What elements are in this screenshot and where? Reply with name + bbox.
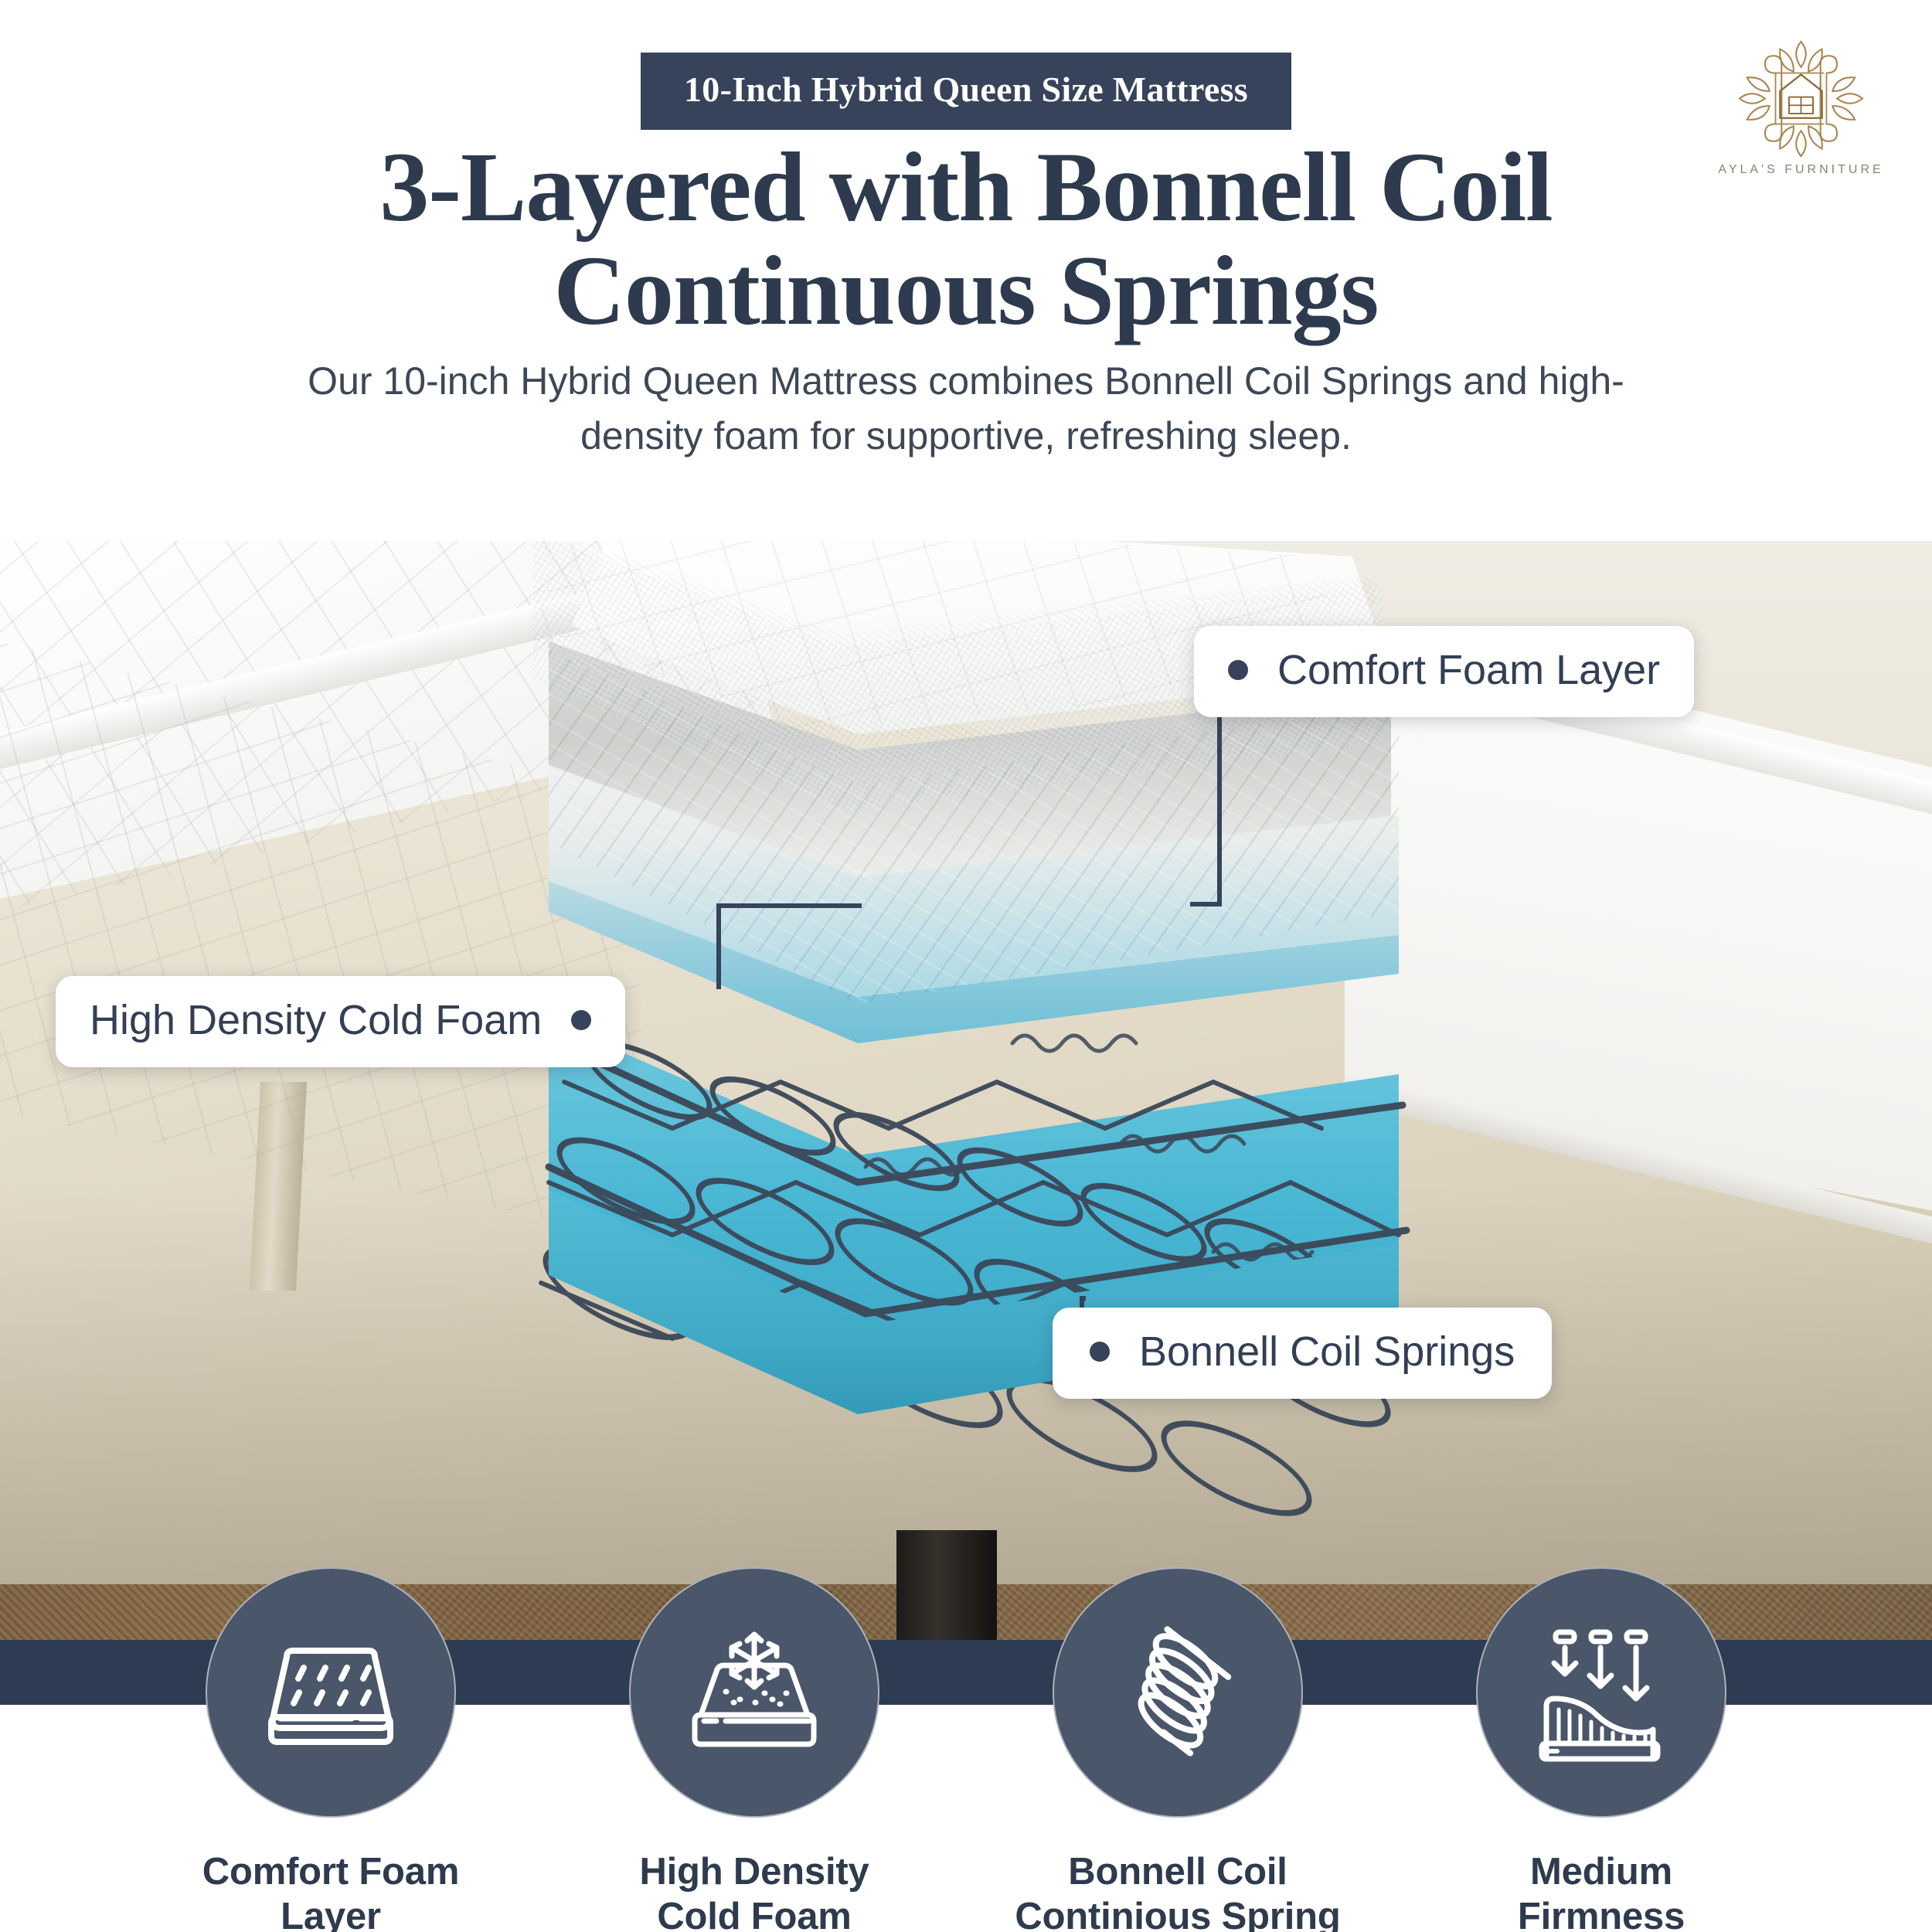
callout-high-density-cold-foam[interactable]: High Density Cold Foam (56, 976, 625, 1067)
feature-label-line-1: Comfort Foam (202, 1850, 459, 1895)
feature-label: Comfort Foam Layer (202, 1850, 459, 1932)
callout-dot-icon (1228, 660, 1248, 680)
callout-bonnell-coil-springs[interactable]: Bonnell Coil Springs (1053, 1308, 1552, 1399)
feature-label-line-2: Layer (202, 1895, 459, 1932)
callout-dot-icon (1090, 1342, 1110, 1362)
feature-label: Medium Firmness (1518, 1850, 1685, 1932)
subtitle: Our 10-inch Hybrid Queen Mattress combin… (263, 354, 1669, 464)
feature-label-line-1: Bonnell Coil (1015, 1850, 1340, 1895)
callout-label: Bonnell Coil Springs (1139, 1331, 1515, 1372)
feature-label-line-1: Medium (1518, 1850, 1685, 1895)
page-title: 3-Layered with Bonnell Coil Continuous S… (193, 135, 1739, 343)
feature-label-line-2: Continious Spring (1015, 1895, 1340, 1932)
callout-comfort-foam-layer[interactable]: Comfort Foam Layer (1194, 626, 1694, 717)
callout-dot-icon (571, 1010, 591, 1030)
feature-label: Bonnell Coil Continious Spring (1015, 1850, 1340, 1932)
header-section: 10-Inch Hybrid Queen Size Mattress 3-Lay… (0, 0, 1932, 541)
feature-label-line-1: High Density (639, 1850, 869, 1895)
ornate-house-mandala-icon (1733, 37, 1869, 161)
brand-logo[interactable]: AYLA'S FURNITURE (1718, 37, 1884, 203)
headline-line-2: Continuous Springs (193, 239, 1739, 342)
infographic-page: Comfort Foam Layer High Density Cold Foa… (0, 0, 1932, 1932)
feature-label-line-2: Firmness (1518, 1895, 1685, 1932)
callout-label: High Density Cold Foam (90, 999, 542, 1041)
feature-label-line-2: Cold Foam (639, 1895, 869, 1932)
headline-line-1: 3-Layered with Bonnell Coil (379, 132, 1552, 242)
logo-wordmark: AYLA'S FURNITURE (1718, 163, 1884, 177)
callout-label: Comfort Foam Layer (1277, 649, 1660, 691)
subtitle-line-1: Our 10-inch Hybrid Queen Mattress combin… (308, 359, 1528, 403)
feature-label: High Density Cold Foam (639, 1850, 869, 1932)
eyebrow-badge: 10-Inch Hybrid Queen Size Mattress (641, 53, 1291, 130)
